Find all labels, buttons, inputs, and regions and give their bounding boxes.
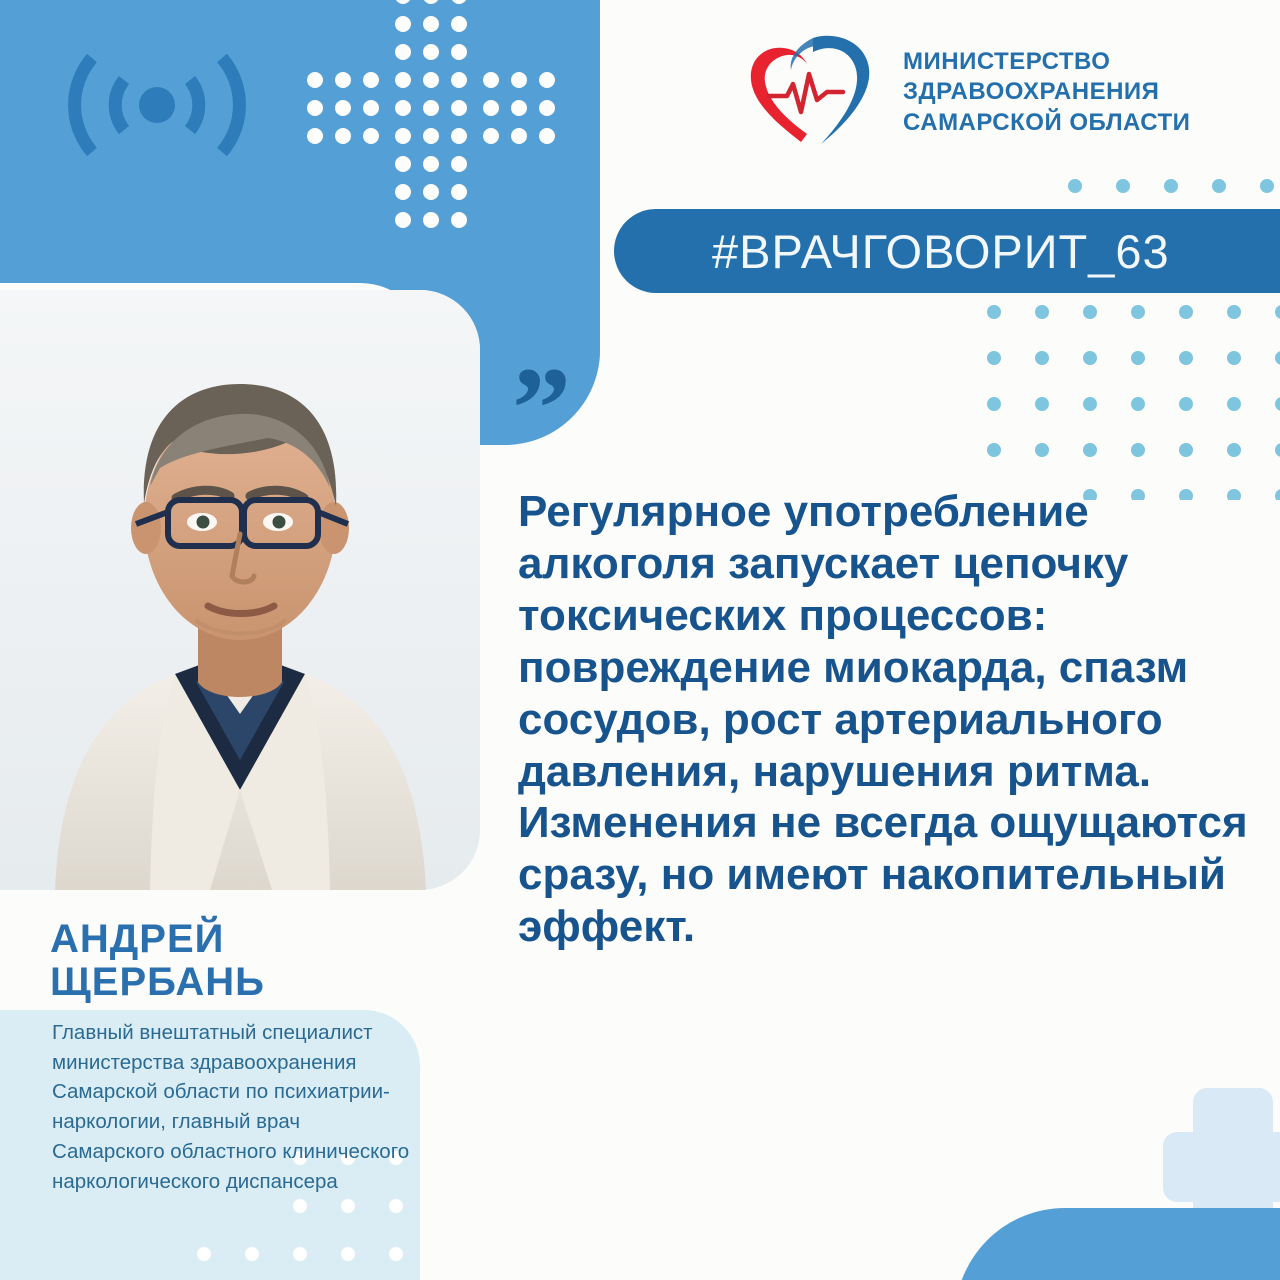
bottom-blue-blob bbox=[955, 1208, 1280, 1280]
dotted-cross-pattern bbox=[300, 0, 562, 238]
speaker-name: АНДРЕЙ ЩЕРБАНЬ bbox=[50, 918, 450, 1004]
doctor-photo-card bbox=[0, 290, 480, 890]
heart-ecg-icon bbox=[735, 30, 885, 155]
dotted-grid-pattern-right bbox=[980, 300, 1280, 500]
ministry-logo-text: МИНИСТЕРСТВО ЗДРАВООХРАНЕНИЯ САМАРСКОЙ О… bbox=[903, 47, 1190, 138]
poster-canvas: АНДРЕЙ ЩЕРБАНЬ Главный внештатный специа… bbox=[0, 0, 1280, 1280]
quote-mark-icon: ” bbox=[512, 350, 571, 468]
speaker-bio-text: Главный внештатный специалист министерст… bbox=[52, 1018, 412, 1196]
speaker-first-name: АНДРЕЙ bbox=[50, 918, 450, 961]
ministry-logo: МИНИСТЕРСТВО ЗДРАВООХРАНЕНИЯ САМАРСКОЙ О… bbox=[735, 30, 1190, 155]
broadcast-signal-icon bbox=[62, 40, 252, 170]
quote-text: Регулярное употребление алкоголя запуска… bbox=[518, 486, 1248, 953]
doctor-portrait bbox=[0, 290, 480, 890]
speaker-last-name: ЩЕРБАНЬ bbox=[50, 961, 450, 1004]
